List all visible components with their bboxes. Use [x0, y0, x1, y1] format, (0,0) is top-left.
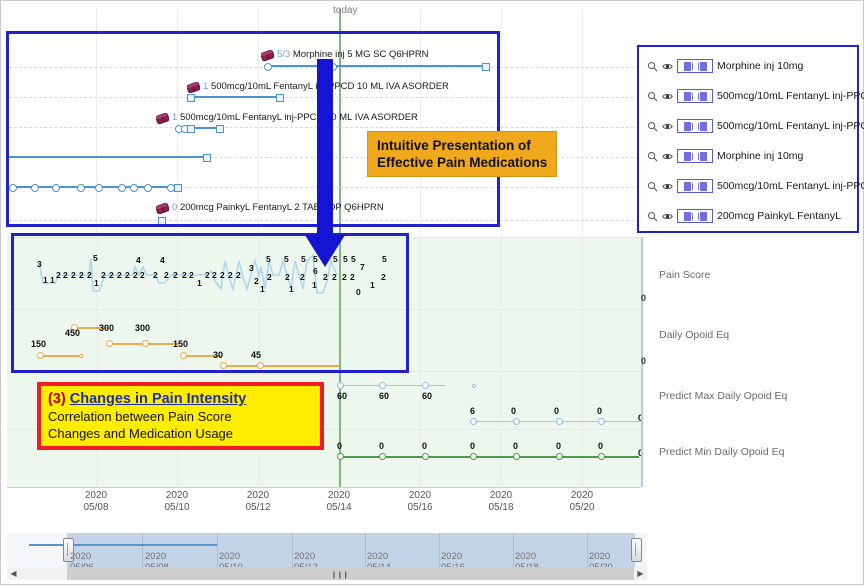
predict-max-point[interactable]: [556, 418, 563, 425]
pain-value: 2: [350, 272, 355, 282]
pain-value: 2: [63, 270, 68, 280]
timeline-gridline: [365, 533, 366, 567]
tick-year: 2020: [219, 551, 243, 562]
legend-label-0: Morphine inj 10mg: [717, 60, 803, 72]
medication-badge-icon: [677, 119, 713, 133]
predict-max-value: 60: [379, 391, 389, 401]
medication-end-cap[interactable]: [482, 63, 490, 71]
pain-value: 5: [382, 254, 387, 264]
tick-year: 2020: [390, 490, 450, 502]
x-axis-tick: 202005/20: [552, 490, 612, 514]
annotation-callout-pain-intensity: (3) Changes in Pain Intensity Correlatio…: [37, 382, 324, 450]
annotation-down-arrow-icon: [305, 59, 347, 271]
medication-badge-icon: [677, 179, 713, 193]
predict-min-point[interactable]: [379, 453, 386, 460]
pain-value: 1: [370, 280, 375, 290]
opioid-value: 150: [173, 339, 188, 349]
tick-year: 2020: [589, 551, 613, 562]
opioid-value: 45: [251, 350, 261, 360]
medication-bar-4[interactable]: [9, 156, 205, 158]
medication-point[interactable]: [144, 184, 152, 192]
eye-icon[interactable]: [662, 121, 673, 132]
x-axis-line: [7, 487, 641, 488]
tick-year: 2020: [228, 490, 288, 502]
legend-item-4[interactable]: 500mcg/10mL FentanyL inj-PPCD: [647, 173, 864, 199]
legend-item-3[interactable]: Morphine inj 10mg: [647, 143, 803, 169]
pain-value: 2: [205, 270, 210, 280]
opioid-segment[interactable]: [223, 365, 259, 367]
pain-value: 4: [136, 255, 141, 265]
opioid-point[interactable]: [37, 352, 44, 359]
search-icon[interactable]: [647, 121, 658, 132]
annotation-subtitle-2: Changes and Medication Usage: [48, 425, 313, 442]
medication-badge-icon: [677, 89, 713, 103]
x-axis-tick: 202005/18: [471, 490, 531, 514]
annotation-line-1: Intuitive Presentation of: [377, 137, 547, 154]
search-icon[interactable]: [647, 181, 658, 192]
timeline-gridline: [587, 533, 588, 567]
predict-max-value: 6: [470, 406, 475, 416]
row-divider: [7, 371, 641, 372]
timeline-gridline: [217, 533, 218, 567]
predict-max-axis-cap: [641, 371, 643, 429]
pill-icon: [187, 80, 200, 91]
medication-badge-icon: [677, 59, 713, 73]
tick-date: 05/18: [471, 502, 531, 514]
pain-value: 2: [300, 272, 305, 282]
medication-name-4: 200mcg PainkyL FentanyL 2 TAB TOP Q6HPRN: [180, 202, 384, 213]
opioid-value: 150: [31, 339, 46, 349]
tick-year: 2020: [66, 490, 126, 502]
series-label-predict-min: Predict Min Daily Opoid Eq: [659, 446, 784, 458]
pain-value: 2: [189, 270, 194, 280]
pain-value: 2: [323, 272, 328, 282]
opioid-point[interactable]: [220, 362, 227, 369]
predict-max-point[interactable]: [472, 384, 476, 388]
predict-max-value: 0: [554, 406, 559, 416]
pill-icon: [261, 48, 274, 59]
predict-max-value: 0: [511, 406, 516, 416]
opioid-value: 300: [99, 323, 114, 333]
medication-name-3: 500mcg/10mL FentanyL inj-PPCD 10 ML IVA …: [180, 112, 418, 123]
predict-max-point[interactable]: [470, 418, 477, 425]
tick-year: 2020: [515, 551, 539, 562]
x-axis-tick: 202005/16: [390, 490, 450, 514]
pill-icon: [156, 201, 169, 212]
tick-year: 2020: [294, 551, 318, 562]
timeline-gridline: [292, 533, 293, 567]
tick-date: 05/14: [309, 502, 369, 514]
medication-start-cap[interactable]: [158, 217, 166, 225]
pain-value: 2: [153, 270, 158, 280]
scrollbar-grip-icon[interactable]: ❙❙❙: [331, 571, 349, 579]
annotation-line-2: Effective Pain Medications: [377, 154, 547, 171]
predict-min-value: 0: [422, 441, 427, 451]
medication-badge-icon: [677, 149, 713, 163]
pain-value: 2: [101, 270, 106, 280]
pain-value: 2: [125, 270, 130, 280]
tick-year: 2020: [147, 490, 207, 502]
medication-point[interactable]: [77, 184, 85, 192]
predict-min-value: 0: [556, 441, 561, 451]
pain-value: 5: [93, 253, 98, 263]
pain-value: 1: [260, 284, 265, 294]
opioid-value: 30: [213, 350, 223, 360]
x-axis-tick: 202005/12: [228, 490, 288, 514]
medication-label-4: 0 200mcg PainkyL FentanyL 2 TAB TOP Q6HP…: [172, 202, 384, 213]
tick-date: 05/10: [147, 502, 207, 514]
pain-value: 0: [356, 287, 361, 297]
pain-value: 4: [160, 255, 165, 265]
eye-icon[interactable]: [662, 61, 673, 72]
opioid-point[interactable]: [142, 340, 149, 347]
opioid-value: 300: [135, 323, 150, 333]
series-label-pain-score: Pain Score: [659, 269, 710, 281]
timeline-gridline: [513, 533, 514, 567]
pain-value: 2: [212, 270, 217, 280]
pain-value: 5: [284, 254, 289, 264]
tick-year: 2020: [309, 490, 369, 502]
pain-value: 2: [164, 270, 169, 280]
daily-opioid-band: [7, 309, 641, 371]
medication-count-1: 5/3: [277, 49, 290, 60]
predict-min-point[interactable]: [422, 453, 429, 460]
predict-min-point[interactable]: [470, 453, 477, 460]
search-icon[interactable]: [647, 151, 658, 162]
x-axis-tick: 202005/14: [309, 490, 369, 514]
predict-max-point[interactable]: [422, 382, 429, 389]
pain-value: 2: [71, 270, 76, 280]
today-label: today: [333, 5, 357, 16]
row-divider: [7, 309, 641, 310]
tick-year: 2020: [552, 490, 612, 502]
timeline-range-selector[interactable]: 202005/06 202005/08 202005/10 202005/12 …: [7, 525, 647, 579]
pain-value: 2: [182, 270, 187, 280]
legend-label-1: 500mcg/10mL FentanyL inj-PPCD: [717, 90, 864, 102]
pain-value: 2: [109, 270, 114, 280]
opioid-segment[interactable]: [40, 355, 80, 357]
pain-value: 2: [117, 270, 122, 280]
scroll-left-arrow-icon[interactable]: ◀: [7, 567, 20, 580]
series-label-predict-max: Predict Max Daily Opoid Eq: [659, 390, 787, 402]
search-icon[interactable]: [647, 211, 658, 222]
predict-min-value: 0: [337, 441, 342, 451]
opioid-point[interactable]: [106, 340, 113, 347]
x-axis-tick: 202005/10: [147, 490, 207, 514]
predict-min-point[interactable]: [337, 453, 344, 460]
tick-year: 2020: [471, 490, 531, 502]
pain-value: 1: [50, 275, 55, 285]
pain-value: 2: [342, 272, 347, 282]
timeline-handle-right[interactable]: [631, 538, 642, 562]
timeline-gridline: [439, 533, 440, 567]
annotation-subtitle-1: Correlation between Pain Score: [48, 408, 313, 425]
predict-max-value: 60: [422, 391, 432, 401]
tick-year: 2020: [70, 551, 94, 562]
eye-icon[interactable]: [662, 181, 673, 192]
predict-max-point[interactable]: [513, 418, 520, 425]
eye-icon[interactable]: [662, 91, 673, 102]
medication-end-cap[interactable]: [174, 184, 182, 192]
pain-value: 1: [197, 278, 202, 288]
tick-year: 2020: [145, 551, 169, 562]
medication-point[interactable]: [95, 184, 103, 192]
tick-date: 05/08: [66, 502, 126, 514]
medication-count-4: 0: [172, 202, 177, 213]
tick-date: 05/16: [390, 502, 450, 514]
eye-icon[interactable]: [662, 211, 673, 222]
predict-min-point[interactable]: [513, 453, 520, 460]
medication-count-3: 1: [172, 112, 177, 123]
medication-bar-1[interactable]: [267, 65, 485, 67]
predict-max-point[interactable]: [337, 382, 344, 389]
medication-legend-panel: Morphine inj 10mg 500mcg/10mL FentanyL i…: [637, 45, 859, 233]
pain-value: 2: [133, 270, 138, 280]
scroll-right-arrow-icon[interactable]: ▶: [634, 567, 647, 580]
predict-max-point[interactable]: [379, 382, 386, 389]
pain-value: 2: [87, 270, 92, 280]
pain-value: 2: [285, 272, 290, 282]
annotation-callout-medications: Intuitive Presentation of Effective Pain…: [367, 131, 557, 177]
medication-point[interactable]: [130, 184, 138, 192]
opioid-point[interactable]: [180, 352, 187, 359]
pain-value: 2: [236, 270, 241, 280]
medication-end-cap[interactable]: [216, 125, 224, 133]
annotation-title: Changes in Pain Intensity: [70, 391, 246, 407]
pain-value: 2: [381, 272, 386, 282]
medication-end-cap[interactable]: [276, 94, 284, 102]
tick-date: 05/12: [228, 502, 288, 514]
pain-value: 1: [94, 278, 99, 288]
horizontal-scrollbar-thumb[interactable]: [20, 567, 67, 580]
medication-point[interactable]: [118, 184, 126, 192]
search-icon[interactable]: [647, 61, 658, 72]
legend-item-5[interactable]: 200mcg PainkyL FentanyL: [647, 203, 841, 229]
medication-count-2: 1: [203, 81, 208, 92]
annotation-title-row: (3) Changes in Pain Intensity: [48, 390, 313, 408]
medication-badge-icon: [677, 209, 713, 223]
pain-value: 1: [312, 280, 317, 290]
pain-value: 2: [140, 270, 145, 280]
medication-point[interactable]: [31, 184, 39, 192]
predict-min-point[interactable]: [556, 453, 563, 460]
pain-value: 2: [56, 270, 61, 280]
legend-label-5: 200mcg PainkyL FentanyL: [717, 210, 841, 222]
tick-year: 2020: [441, 551, 465, 562]
pain-value: 2: [254, 276, 259, 286]
predict-max-upper-segment[interactable]: [341, 385, 445, 386]
medication-point[interactable]: [52, 184, 60, 192]
pain-value: 2: [79, 270, 84, 280]
opioid-point[interactable]: [79, 354, 83, 358]
predict-max-point[interactable]: [598, 418, 605, 425]
pain-value: 2: [267, 272, 272, 282]
timeline-sparkline: [29, 544, 217, 546]
pain-axis-zero: 0: [641, 293, 646, 303]
daily-opioid-axis-zero: 0: [641, 356, 646, 366]
predict-min-axis-cap: [641, 429, 643, 487]
pain-value: 3: [37, 259, 42, 269]
predict-min-point[interactable]: [598, 453, 605, 460]
annotation-number: (3): [48, 391, 66, 407]
medication-start-cap[interactable]: [187, 94, 195, 102]
horizontal-scrollbar-track[interactable]: [7, 567, 647, 580]
pain-value: 2: [173, 270, 178, 280]
legend-item-2[interactable]: 500mcg/10mL FentanyL inj-PPCD: [647, 113, 864, 139]
series-label-daily-opioid: Daily Opoid Eq: [659, 329, 729, 341]
legend-label-3: Morphine inj 10mg: [717, 150, 803, 162]
predict-min-value: 0: [379, 441, 384, 451]
pain-value: 2: [332, 272, 337, 282]
medication-point[interactable]: [264, 63, 272, 71]
pain-value: 3: [249, 263, 254, 273]
pain-value: 7: [360, 262, 365, 272]
predict-min-value: 0: [470, 441, 475, 451]
medication-point[interactable]: [9, 184, 17, 192]
predict-min-value: 0: [513, 441, 518, 451]
pain-value: 2: [228, 270, 233, 280]
eye-icon[interactable]: [662, 151, 673, 162]
legend-item-1[interactable]: 500mcg/10mL FentanyL inj-PPCD: [647, 83, 864, 109]
medication-start-cap[interactable]: [187, 125, 195, 133]
pain-value: 5: [351, 254, 356, 264]
chart-application-window: today 5/3 Morphine inj 5 MG SC Q6HPRN: [0, 0, 864, 585]
medication-label-1: 5/3 Morphine inj 5 MG SC Q6HPRN: [277, 49, 429, 60]
legend-label-4: 500mcg/10mL FentanyL inj-PPCD: [717, 180, 864, 192]
timeline-gridline: [142, 533, 143, 567]
predict-max-value: 60: [337, 391, 347, 401]
x-axis-tick: 202005/08: [66, 490, 126, 514]
medication-label-3: 1 500mcg/10mL FentanyL inj-PPCD 10 ML IV…: [172, 112, 418, 123]
opioid-value: 450: [65, 328, 80, 338]
medication-end-cap[interactable]: [203, 154, 211, 162]
pain-value: 1: [43, 275, 48, 285]
pill-icon: [156, 111, 169, 122]
opioid-segment[interactable]: [260, 365, 340, 367]
predict-min-value: 0: [598, 441, 603, 451]
tick-year: 2020: [367, 551, 391, 562]
pain-value: 1: [289, 284, 294, 294]
search-icon[interactable]: [647, 91, 658, 102]
medication-bar-2[interactable]: [192, 96, 279, 98]
pain-value: 5: [266, 254, 271, 264]
legend-item-0[interactable]: Morphine inj 10mg: [647, 53, 803, 79]
legend-label-2: 500mcg/10mL FentanyL inj-PPCD: [717, 120, 864, 132]
pain-value: 2: [220, 270, 225, 280]
opioid-point[interactable]: [257, 362, 264, 369]
predict-max-value: 0: [597, 406, 602, 416]
tick-date: 05/20: [552, 502, 612, 514]
